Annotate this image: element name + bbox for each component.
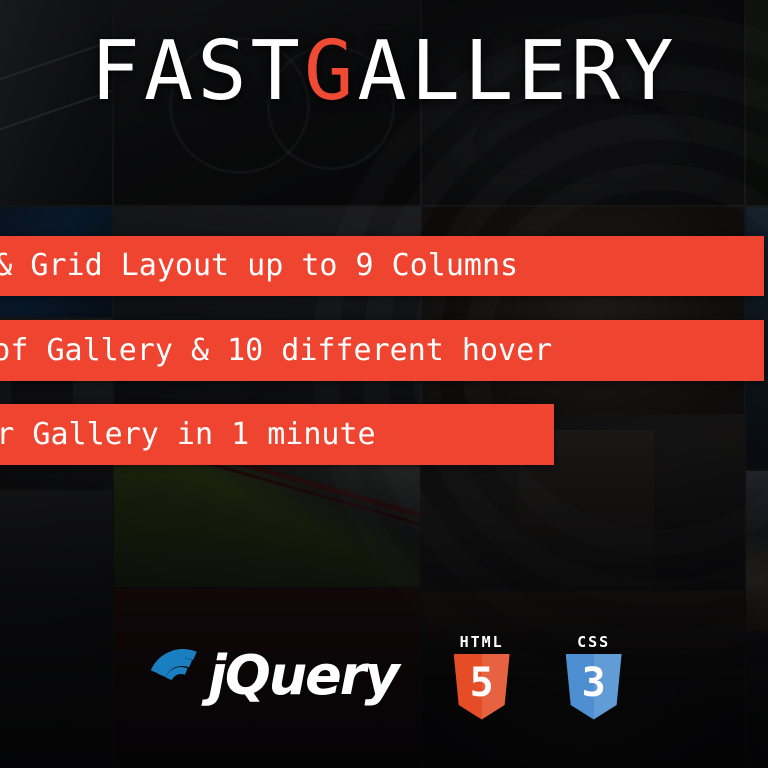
jquery-swoosh-icon [146,645,202,707]
technology-logos: jQuery HTML 5 CSS 3 [0,626,768,726]
promo-banner: FASTGALLERY onry & Grid Layout up to 9 C… [0,0,768,768]
feature-bar-3-label: d your Gallery in 1 minute [0,420,376,450]
jquery-logo: jQuery [146,645,397,707]
feature-bar-2-label: ypes of Gallery & 10 different hover [0,336,552,366]
html5-logo: HTML 5 [454,633,510,720]
title-part-one: FAST [90,24,303,119]
feature-bar-1-label: onry & Grid Layout up to 9 Columns [0,251,518,281]
css3-shield-icon: 3 [566,654,622,720]
html5-label: HTML [460,633,504,651]
page-title: FASTGALLERY [0,26,768,118]
html5-shield-icon: 5 [454,654,510,720]
feature-bar-3: d your Gallery in 1 minute [0,404,554,465]
css3-logo: CSS 3 [566,633,622,720]
title-part-two: ALLERY [357,24,677,119]
feature-bar-1: onry & Grid Layout up to 9 Columns [0,236,764,296]
title-accent-letter: G [304,24,357,119]
jquery-wordmark: jQuery [208,649,397,703]
css3-label: CSS [577,633,610,651]
feature-bar-2: ypes of Gallery & 10 different hover [0,320,764,381]
